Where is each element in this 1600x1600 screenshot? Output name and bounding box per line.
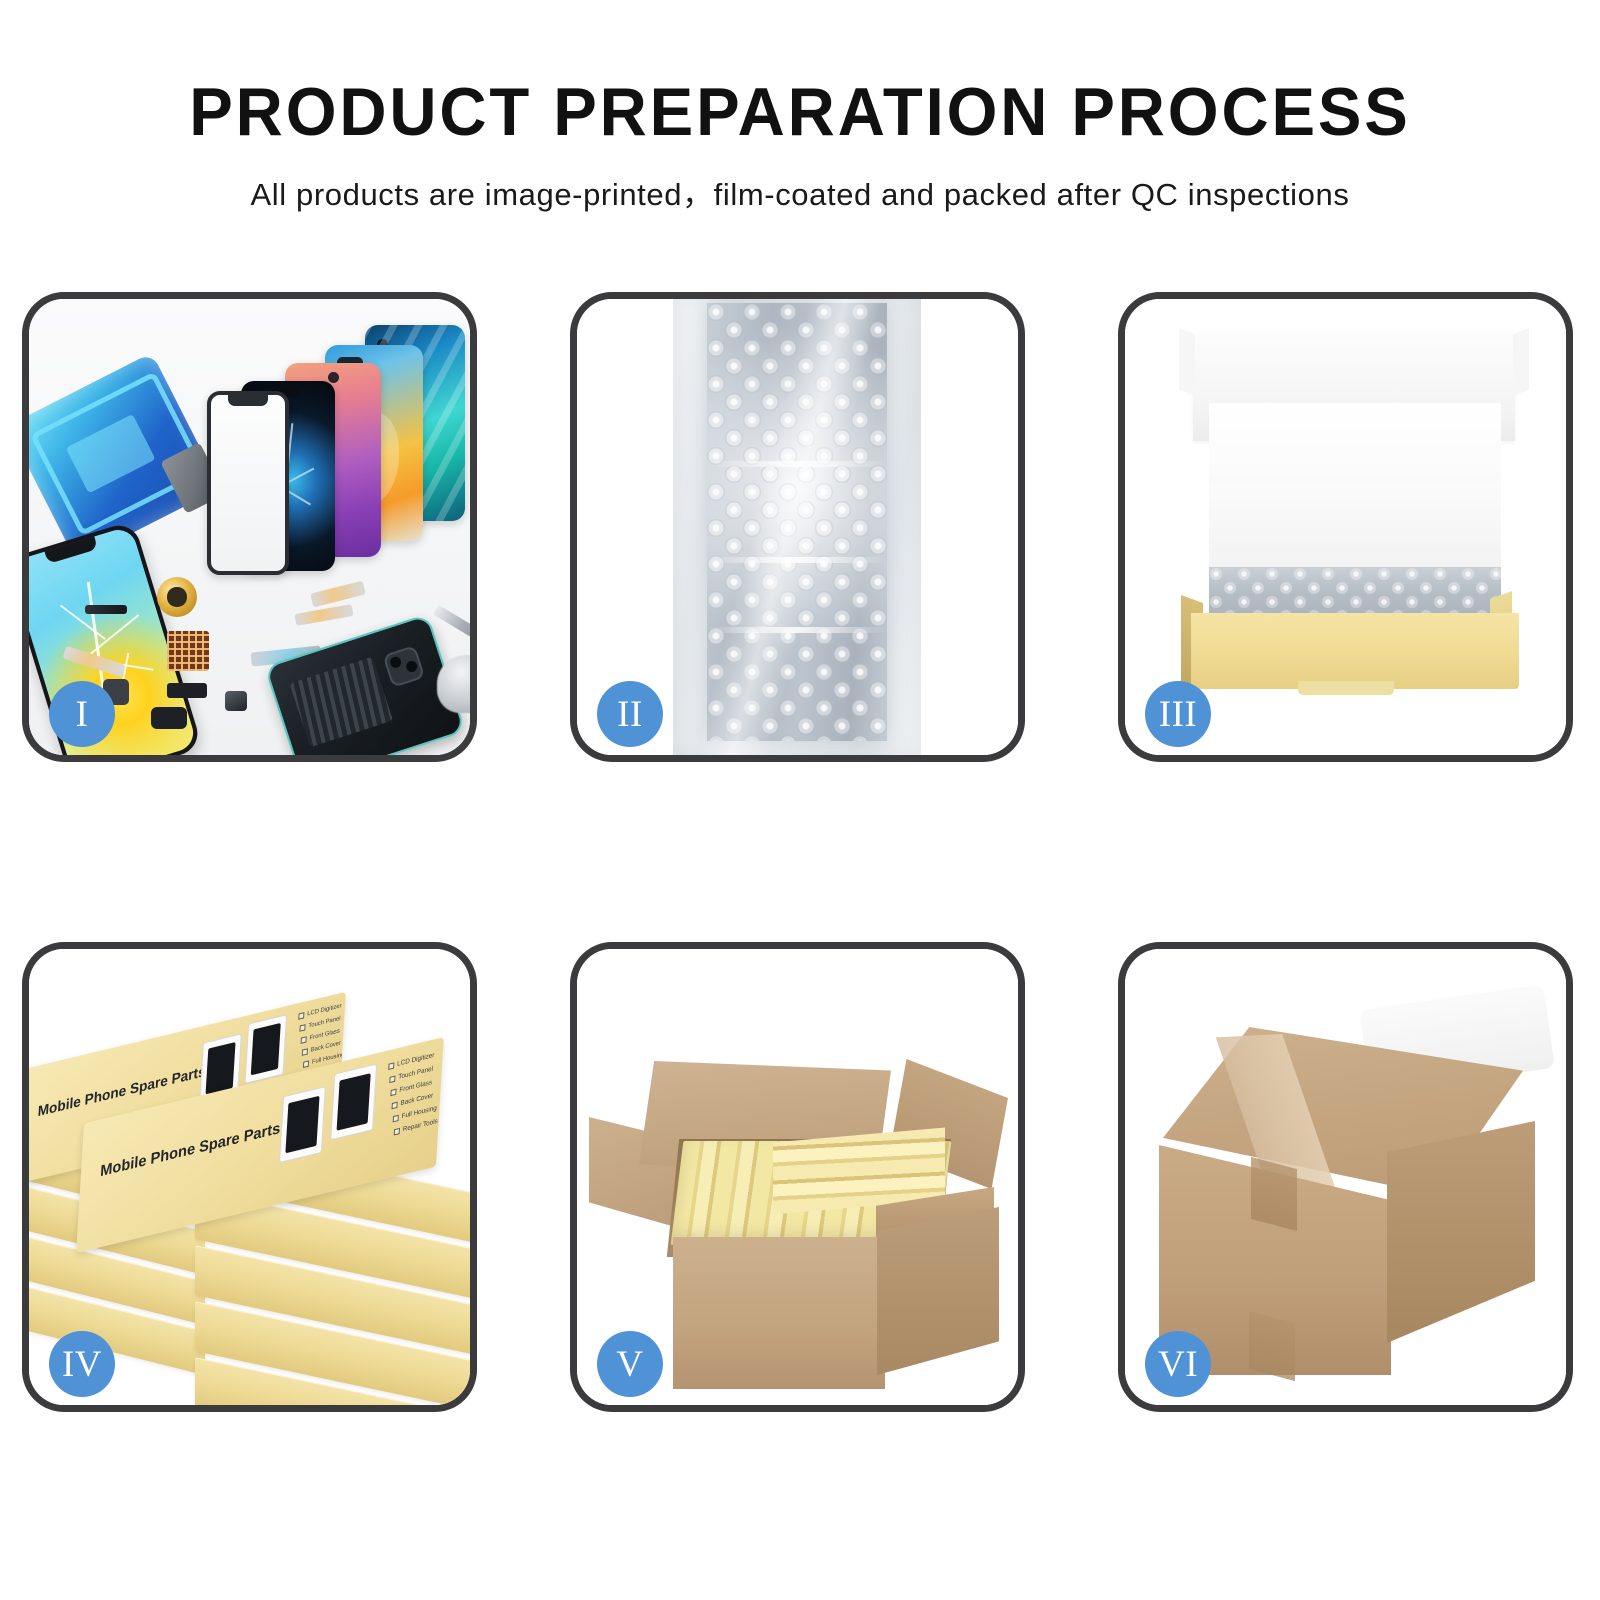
foam-liner-graphic xyxy=(1209,485,1501,575)
step-badge-5: V xyxy=(597,1331,663,1397)
inner-box-tab-graphic xyxy=(1298,681,1394,695)
step-numeral-3: III xyxy=(1159,696,1197,733)
checklist-item: Full Housing xyxy=(401,1105,437,1121)
inner-box-front-graphic xyxy=(1191,613,1519,689)
step-numeral-2: II xyxy=(617,696,643,733)
checklist-item: Touch Panel xyxy=(308,1016,341,1030)
retail-box-brand-2: Mobile Phone Spare Parts xyxy=(100,1119,281,1180)
phone-screen-fan-graphic xyxy=(207,323,470,559)
process-grid: I II xyxy=(22,292,1578,1482)
step-badge-1: I xyxy=(49,681,115,747)
carton-seam-lower xyxy=(1249,1311,1295,1381)
step-numeral-5: V xyxy=(616,1346,643,1383)
sealed-carton-side-face xyxy=(1387,1121,1535,1343)
checklist-item: LCD Digitizer xyxy=(307,1003,342,1018)
checklist-item: Touch Panel xyxy=(398,1065,433,1081)
carton-seam-upper xyxy=(1251,1157,1297,1231)
step-panel-4: Mobile Phone Spare Parts LCD Digitizer T… xyxy=(22,942,477,1412)
page-title: PRODUCT PREPARATION PROCESS xyxy=(32,78,1568,147)
step-numeral-1: I xyxy=(76,696,89,733)
step-badge-3: III xyxy=(1145,681,1211,747)
tempered-glass-graphic xyxy=(207,391,289,575)
step-panel-3: III xyxy=(1118,292,1573,762)
step-badge-6: VI xyxy=(1145,1331,1211,1397)
step-panel-6: VI xyxy=(1118,942,1573,1412)
step-badge-4: IV xyxy=(49,1331,115,1397)
carton-side-face xyxy=(877,1207,999,1375)
header: PRODUCT PREPARATION PROCESS All products… xyxy=(0,78,1600,214)
carton-front-face xyxy=(673,1237,885,1389)
checklist-item: Front Glass xyxy=(399,1079,432,1094)
infographic-page: PRODUCT PREPARATION PROCESS All products… xyxy=(0,0,1600,1600)
step-panel-1: I xyxy=(22,292,477,762)
checklist-item: Back Cover xyxy=(400,1092,433,1107)
step-numeral-6: VI xyxy=(1158,1346,1198,1383)
step-badge-2: II xyxy=(597,681,663,747)
checklist-item: Back Cover xyxy=(311,1040,342,1054)
checklist-item: Front Glass xyxy=(309,1028,340,1042)
step-numeral-4: IV xyxy=(62,1346,102,1383)
step-panel-5: V xyxy=(570,942,1025,1412)
checklist-item: Repair Tools xyxy=(403,1118,438,1134)
step-panel-2: II xyxy=(570,292,1025,762)
bubble-wrap-bag-graphic xyxy=(673,299,921,755)
page-subtitle: All products are image-printed，film-coat… xyxy=(0,169,1600,214)
bubble-wrapped-item-graphic xyxy=(1209,567,1501,619)
